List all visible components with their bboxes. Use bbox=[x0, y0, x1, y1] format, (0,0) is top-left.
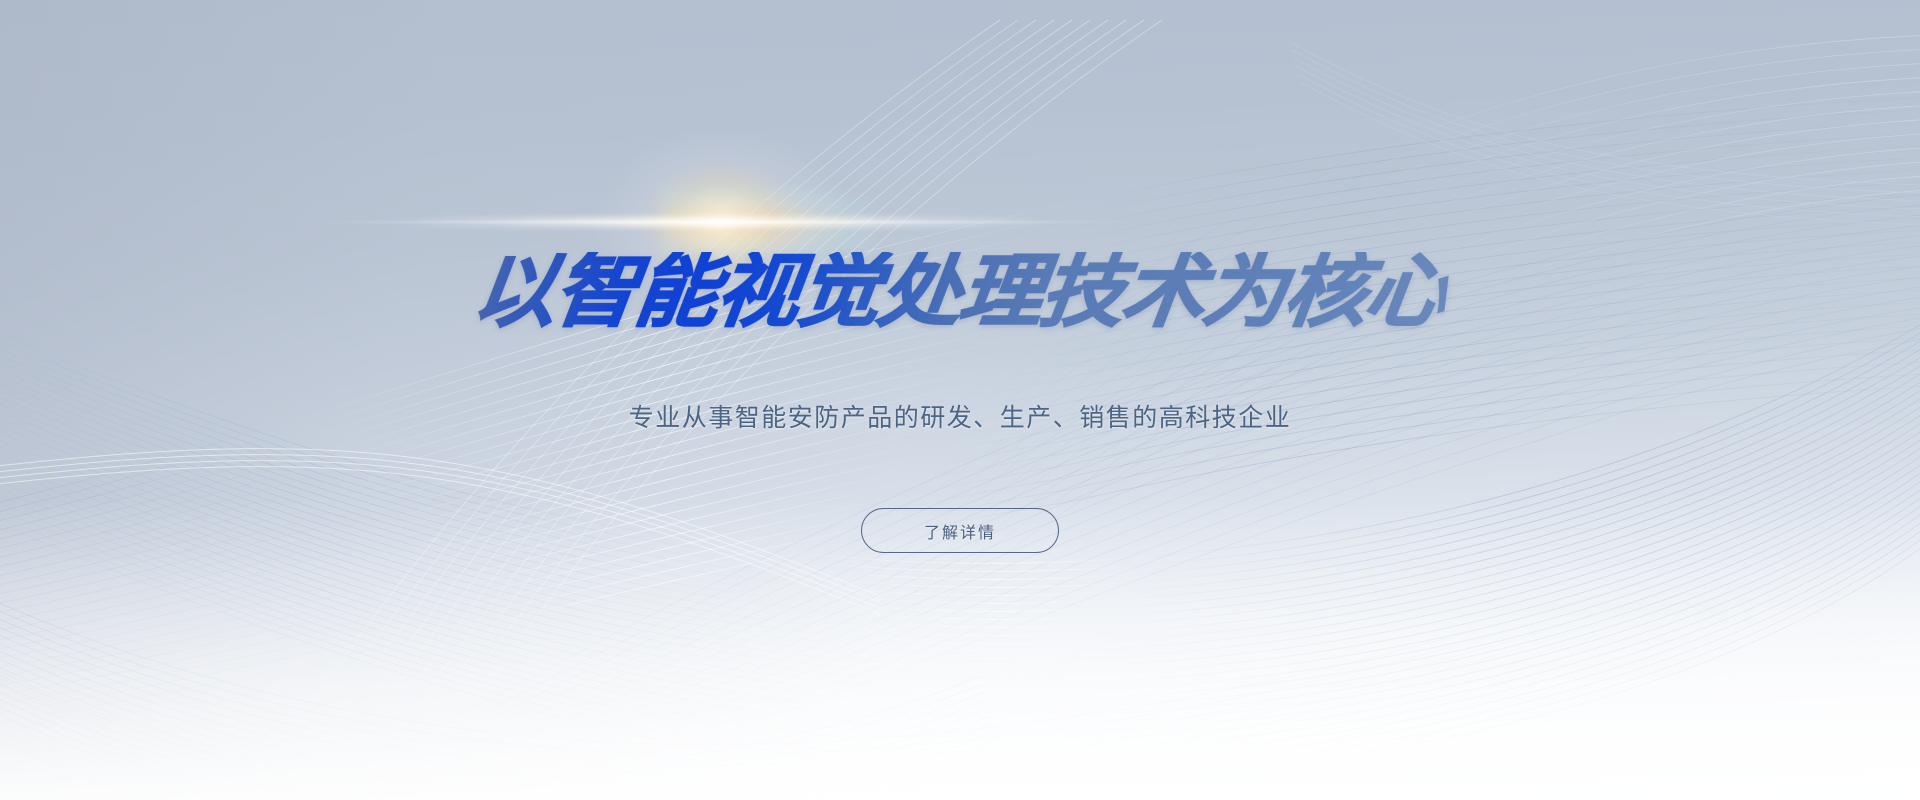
headline-wrapper: 以智能视觉处理技术为核心 bbox=[468, 252, 1451, 332]
hero-headline: 以智能视觉处理技术为核心 bbox=[468, 252, 1451, 332]
flare-chromatic bbox=[662, 186, 872, 260]
background-tint-left bbox=[0, 0, 1920, 800]
learn-more-button[interactable]: 了解详情 bbox=[861, 508, 1059, 553]
hero-subtitle: 专业从事智能安防产品的研发、生产、销售的高科技企业 bbox=[629, 398, 1292, 434]
flare-streak-thin bbox=[302, 221, 1142, 223]
hero-content: 以智能视觉处理技术为核心 专业从事智能安防产品的研发、生产、销售的高科技企业 了… bbox=[0, 0, 1920, 800]
flowing-line-wave-decoration bbox=[0, 0, 1920, 800]
flare-streak bbox=[392, 217, 1052, 227]
flare-core bbox=[592, 126, 852, 318]
hero-banner: 以智能视觉处理技术为核心 专业从事智能安防产品的研发、生产、销售的高科技企业 了… bbox=[0, 0, 1920, 800]
